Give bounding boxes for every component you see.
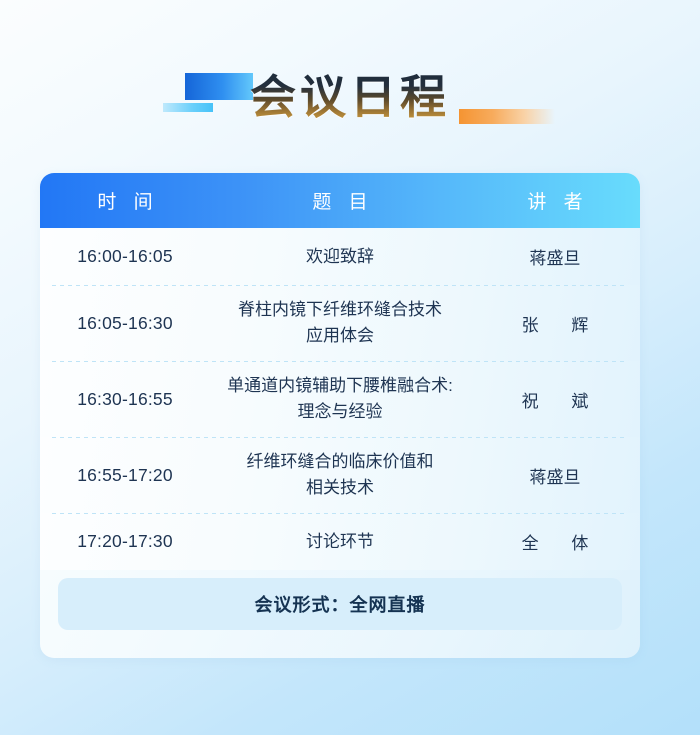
cell-topic-line1: 单通道内镜辅助下腰椎融合术:: [210, 373, 470, 399]
column-header-time: 时 间: [40, 187, 210, 214]
cell-topic-line2: 理念与经验: [210, 399, 470, 425]
agenda-poster: 会议日程 时 间 题 目 讲 者 16:00-16:05 欢迎致辞 蒋盛旦 16…: [0, 0, 700, 735]
cell-time: 16:30-16:55: [40, 389, 210, 410]
cell-speaker: 祝 斌: [470, 387, 640, 412]
table-header-row: 时 间 题 目 讲 者: [40, 173, 640, 228]
cell-speaker: 蒋盛旦: [470, 244, 640, 269]
cell-topic: 欢迎致辞: [210, 244, 470, 270]
cell-topic-line2: 相关技术: [210, 475, 470, 501]
cell-topic-line1: 讨论环节: [210, 529, 470, 555]
title-block: 会议日程: [0, 62, 700, 138]
cell-topic: 纤维环缝合的临床价值和 相关技术: [210, 449, 470, 501]
title-decor-cyan-bar-icon: [163, 103, 213, 112]
column-header-topic: 题 目: [210, 187, 470, 214]
cell-speaker: 张 辉: [470, 311, 640, 336]
cell-topic: 单通道内镜辅助下腰椎融合术: 理念与经验: [210, 373, 470, 425]
cell-topic-line1: 欢迎致辞: [210, 244, 470, 270]
table-row: 17:20-17:30 讨论环节 全 体: [40, 513, 640, 570]
cell-topic-line2: 应用体会: [210, 323, 470, 349]
cell-time: 17:20-17:30: [40, 531, 210, 552]
column-header-speaker: 讲 者: [470, 187, 640, 214]
cell-topic: 脊柱内镜下纤维环缝合技术 应用体会: [210, 297, 470, 349]
cell-time: 16:00-16:05: [40, 246, 210, 267]
cell-speaker: 蒋盛旦: [470, 463, 640, 488]
table-row: 16:00-16:05 欢迎致辞 蒋盛旦: [40, 228, 640, 285]
cell-topic-line1: 纤维环缝合的临床价值和: [210, 449, 470, 475]
cell-time: 16:55-17:20: [40, 465, 210, 486]
cell-speaker: 全 体: [470, 529, 640, 554]
table-row: 16:05-16:30 脊柱内镜下纤维环缝合技术 应用体会 张 辉: [40, 285, 640, 361]
table-row: 16:30-16:55 单通道内镜辅助下腰椎融合术: 理念与经验 祝 斌: [40, 361, 640, 437]
page-title: 会议日程: [223, 62, 477, 132]
cell-topic-line1: 脊柱内镜下纤维环缝合技术: [210, 297, 470, 323]
title-inner: 会议日程: [223, 62, 477, 138]
meeting-format-banner: 会议形式：全网直播: [58, 578, 622, 630]
cell-time: 16:05-16:30: [40, 313, 210, 334]
cell-topic: 讨论环节: [210, 529, 470, 555]
agenda-table-body: 16:00-16:05 欢迎致辞 蒋盛旦 16:05-16:30 脊柱内镜下纤维…: [40, 228, 640, 570]
table-row: 16:55-17:20 纤维环缝合的临床价值和 相关技术 蒋盛旦: [40, 437, 640, 513]
